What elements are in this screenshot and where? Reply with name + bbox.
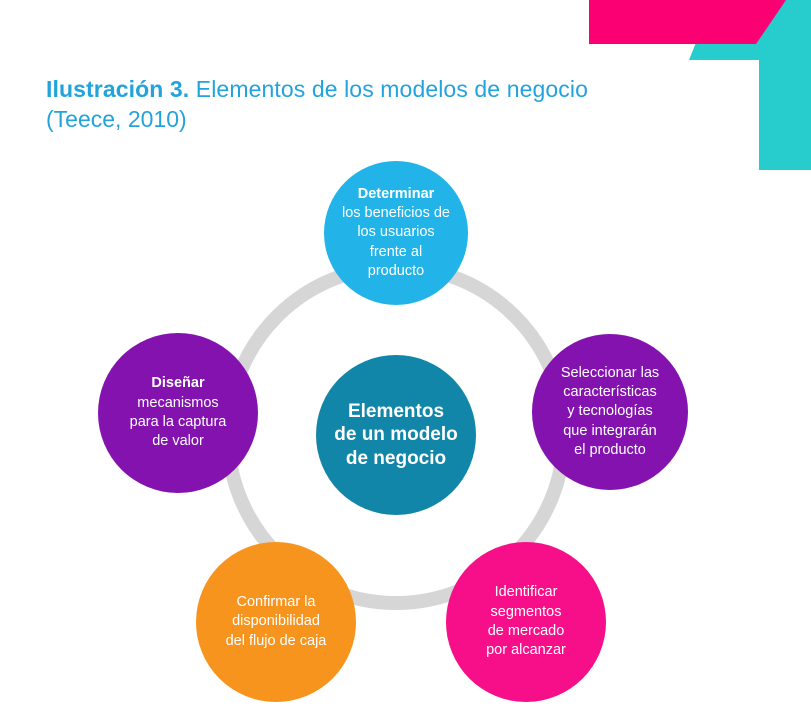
node-left-line-3: para la captura xyxy=(102,413,254,432)
node-bottom-left-text: Confirmar la disponibilidad del flujo de… xyxy=(200,593,352,651)
node-center-elementos-modelo-negocio[interactable]: Elementos de un modelo de negocio xyxy=(316,355,476,515)
figure-title-line-1: Ilustración 3. Elementos de los modelos … xyxy=(46,74,666,104)
node-top-text: Determinar los beneficios de los usuario… xyxy=(328,185,464,281)
figure-title: Ilustración 3. Elementos de los modelos … xyxy=(46,74,666,135)
node-center-line-2: de un modelo xyxy=(320,423,472,446)
node-left-line-2: mecanismos xyxy=(102,394,254,413)
node-bottom-left-line-2: disponibilidad xyxy=(200,612,352,631)
figure-number: Ilustración 3. xyxy=(46,76,189,102)
node-center-line-3: de negocio xyxy=(320,447,472,470)
node-center-line-1: Elementos xyxy=(320,400,472,423)
node-left-line-1: Diseñar xyxy=(102,374,254,393)
node-right-line-1: Seleccionar las xyxy=(536,364,684,383)
node-disenar-mecanismos[interactable]: Diseñar mecanismos para la captura de va… xyxy=(98,333,258,493)
node-identificar-segmentos[interactable]: Identificar segmentos de mercado por alc… xyxy=(446,542,606,702)
node-top-line-4: frente al xyxy=(328,243,464,262)
node-determinar-beneficios[interactable]: Determinar los beneficios de los usuario… xyxy=(324,161,468,305)
figure-source: (Teece, 2010) xyxy=(46,104,666,134)
node-right-line-5: el producto xyxy=(536,441,684,460)
node-seleccionar-caracteristicas[interactable]: Seleccionar las características y tecnol… xyxy=(532,334,688,490)
pink-angled-banner-icon xyxy=(589,0,786,44)
node-bottom-right-line-3: de mercado xyxy=(450,622,602,641)
node-bottom-left-line-3: del flujo de caja xyxy=(200,632,352,651)
cycle-diagram: Determinar los beneficios de los usuario… xyxy=(0,140,811,707)
figure-caption: Elementos de los modelos de negocio xyxy=(189,76,588,102)
figure-canvas: Ilustración 3. Elementos de los modelos … xyxy=(0,0,811,707)
node-bottom-right-text: Identificar segmentos de mercado por alc… xyxy=(450,583,602,660)
node-top-line-5: producto xyxy=(328,262,464,281)
node-right-line-2: características xyxy=(536,383,684,402)
node-center-text: Elementos de un modelo de negocio xyxy=(320,400,472,470)
node-right-line-4: que integrarán xyxy=(536,422,684,441)
node-bottom-right-line-1: Identificar xyxy=(450,583,602,602)
node-right-text: Seleccionar las características y tecnol… xyxy=(536,364,684,460)
node-left-line-4: de valor xyxy=(102,432,254,451)
node-top-line-2: los beneficios de xyxy=(328,204,464,223)
node-bottom-right-line-4: por alcanzar xyxy=(450,641,602,660)
node-right-line-3: y tecnologías xyxy=(536,402,684,421)
node-left-text: Diseñar mecanismos para la captura de va… xyxy=(102,374,254,451)
node-bottom-right-line-2: segmentos xyxy=(450,603,602,622)
node-bottom-left-line-1: Confirmar la xyxy=(200,593,352,612)
node-top-line-1: Determinar xyxy=(328,185,464,204)
node-top-line-3: los usuarios xyxy=(328,223,464,242)
node-confirmar-flujo-caja[interactable]: Confirmar la disponibilidad del flujo de… xyxy=(196,542,356,702)
